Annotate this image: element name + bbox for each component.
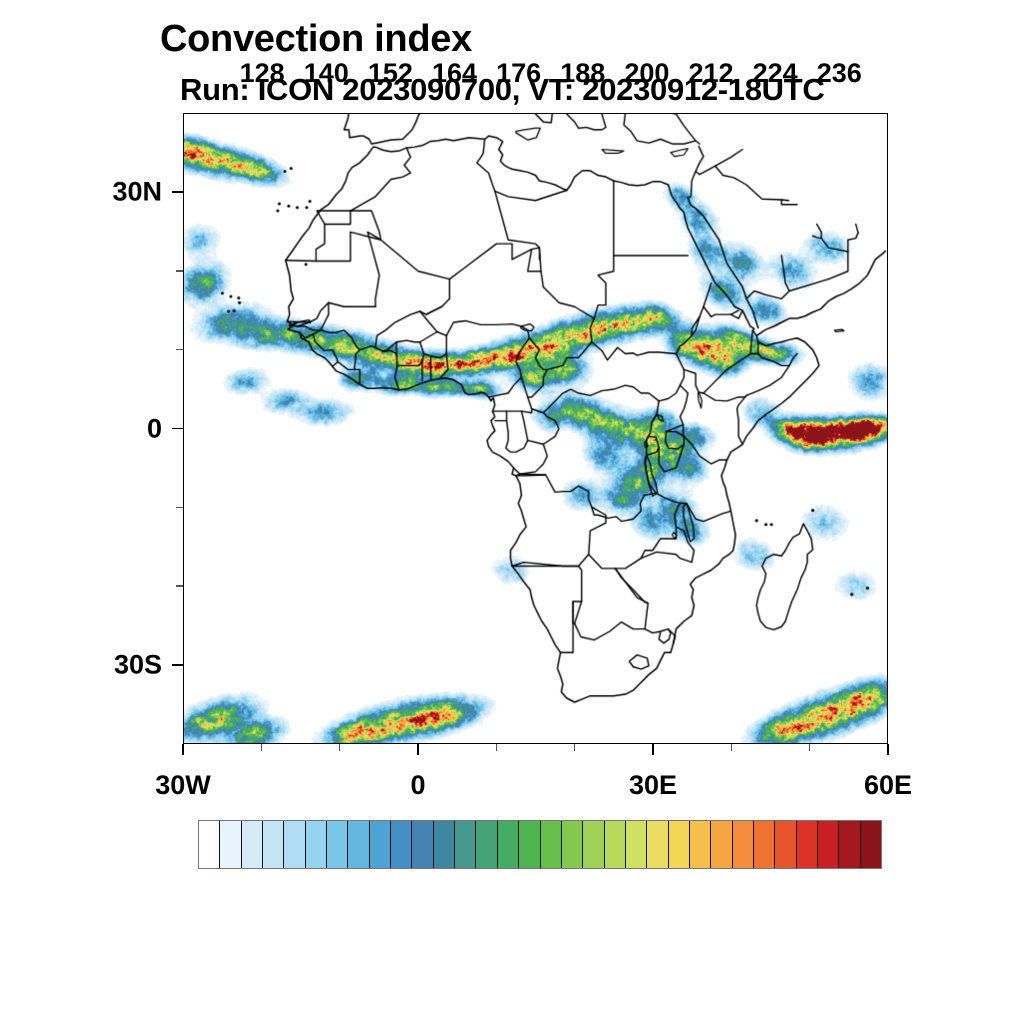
x-axis-tick-label: 30W [155, 770, 211, 801]
colorbar-tick-label: 164 [432, 58, 477, 89]
colorbar-cell [455, 821, 476, 868]
figure-root: Convection index Run: ICON 2023090700, V… [0, 0, 1024, 1024]
colorbar-cell [199, 821, 220, 868]
colorbar-cell [818, 821, 839, 868]
colorbar-cell [647, 821, 668, 868]
colorbar-cell [306, 821, 327, 868]
colorbar [198, 820, 882, 869]
colorbar-tick-label: 176 [496, 58, 541, 89]
colorbar-tick-label: 128 [240, 58, 285, 89]
colorbar-cell [476, 821, 497, 868]
colorbar-cell [797, 821, 818, 868]
colorbar-tick-label: 200 [624, 58, 669, 89]
x-axis-tick-label: 30E [629, 770, 677, 801]
y-axis-tick [172, 428, 183, 430]
colorbar-cell [669, 821, 690, 868]
y-axis-minor-tick [176, 270, 183, 272]
x-axis-minor-tick [731, 744, 733, 751]
x-axis-tick [887, 744, 889, 755]
x-axis-tick [652, 744, 654, 755]
y-axis-tick-label: 30N [60, 176, 162, 207]
colorbar-cell [541, 821, 562, 868]
y-axis-minor-tick [176, 349, 183, 351]
colorbar-cell [605, 821, 626, 868]
map-plot-area [183, 113, 888, 744]
colorbar-cell [861, 821, 881, 868]
colorbar-tick-label: 212 [688, 58, 733, 89]
colorbar-cell [370, 821, 391, 868]
colorbar-cell [412, 821, 433, 868]
colorbar-tick-label: 188 [560, 58, 605, 89]
colorbar-cell [284, 821, 305, 868]
colorbar-cell [690, 821, 711, 868]
colorbar-cell [263, 821, 284, 868]
colorbar-cells [198, 820, 882, 869]
colorbar-tick-label: 140 [304, 58, 349, 89]
y-axis-tick-label: 0 [60, 413, 162, 444]
colorbar-cell [220, 821, 241, 868]
page-title: Convection index [160, 18, 472, 61]
colorbar-cell [754, 821, 775, 868]
x-axis-minor-tick [574, 744, 576, 751]
colorbar-cell [519, 821, 540, 868]
x-axis-minor-tick [496, 744, 498, 751]
x-axis-minor-tick [339, 744, 341, 751]
colorbar-cell [775, 821, 796, 868]
colorbar-cell [733, 821, 754, 868]
colorbar-cell [434, 821, 455, 868]
y-axis-minor-tick [176, 507, 183, 509]
x-axis-tick [417, 744, 419, 755]
colorbar-cell [583, 821, 604, 868]
colorbar-cell [562, 821, 583, 868]
colorbar-cell [626, 821, 647, 868]
x-axis-tick-label: 0 [410, 770, 425, 801]
colorbar-cell [498, 821, 519, 868]
colorbar-cell [242, 821, 263, 868]
colorbar-cell [327, 821, 348, 868]
colorbar-tick-label: 224 [753, 58, 798, 89]
x-axis-tick [182, 744, 184, 755]
colorbar-tick-label: 152 [368, 58, 413, 89]
colorbar-cell [839, 821, 860, 868]
y-axis-tick-label: 30S [60, 650, 162, 681]
y-axis-tick [172, 191, 183, 193]
y-axis-minor-tick [176, 585, 183, 587]
colorbar-cell [711, 821, 732, 868]
colorbar-tick-label: 236 [817, 58, 862, 89]
convection-index-raster [184, 114, 887, 743]
x-axis-minor-tick [261, 744, 263, 751]
x-axis-minor-tick [809, 744, 811, 751]
x-axis-tick-label: 60E [864, 770, 912, 801]
colorbar-cell [348, 821, 369, 868]
colorbar-cell [391, 821, 412, 868]
y-axis-tick [172, 664, 183, 666]
